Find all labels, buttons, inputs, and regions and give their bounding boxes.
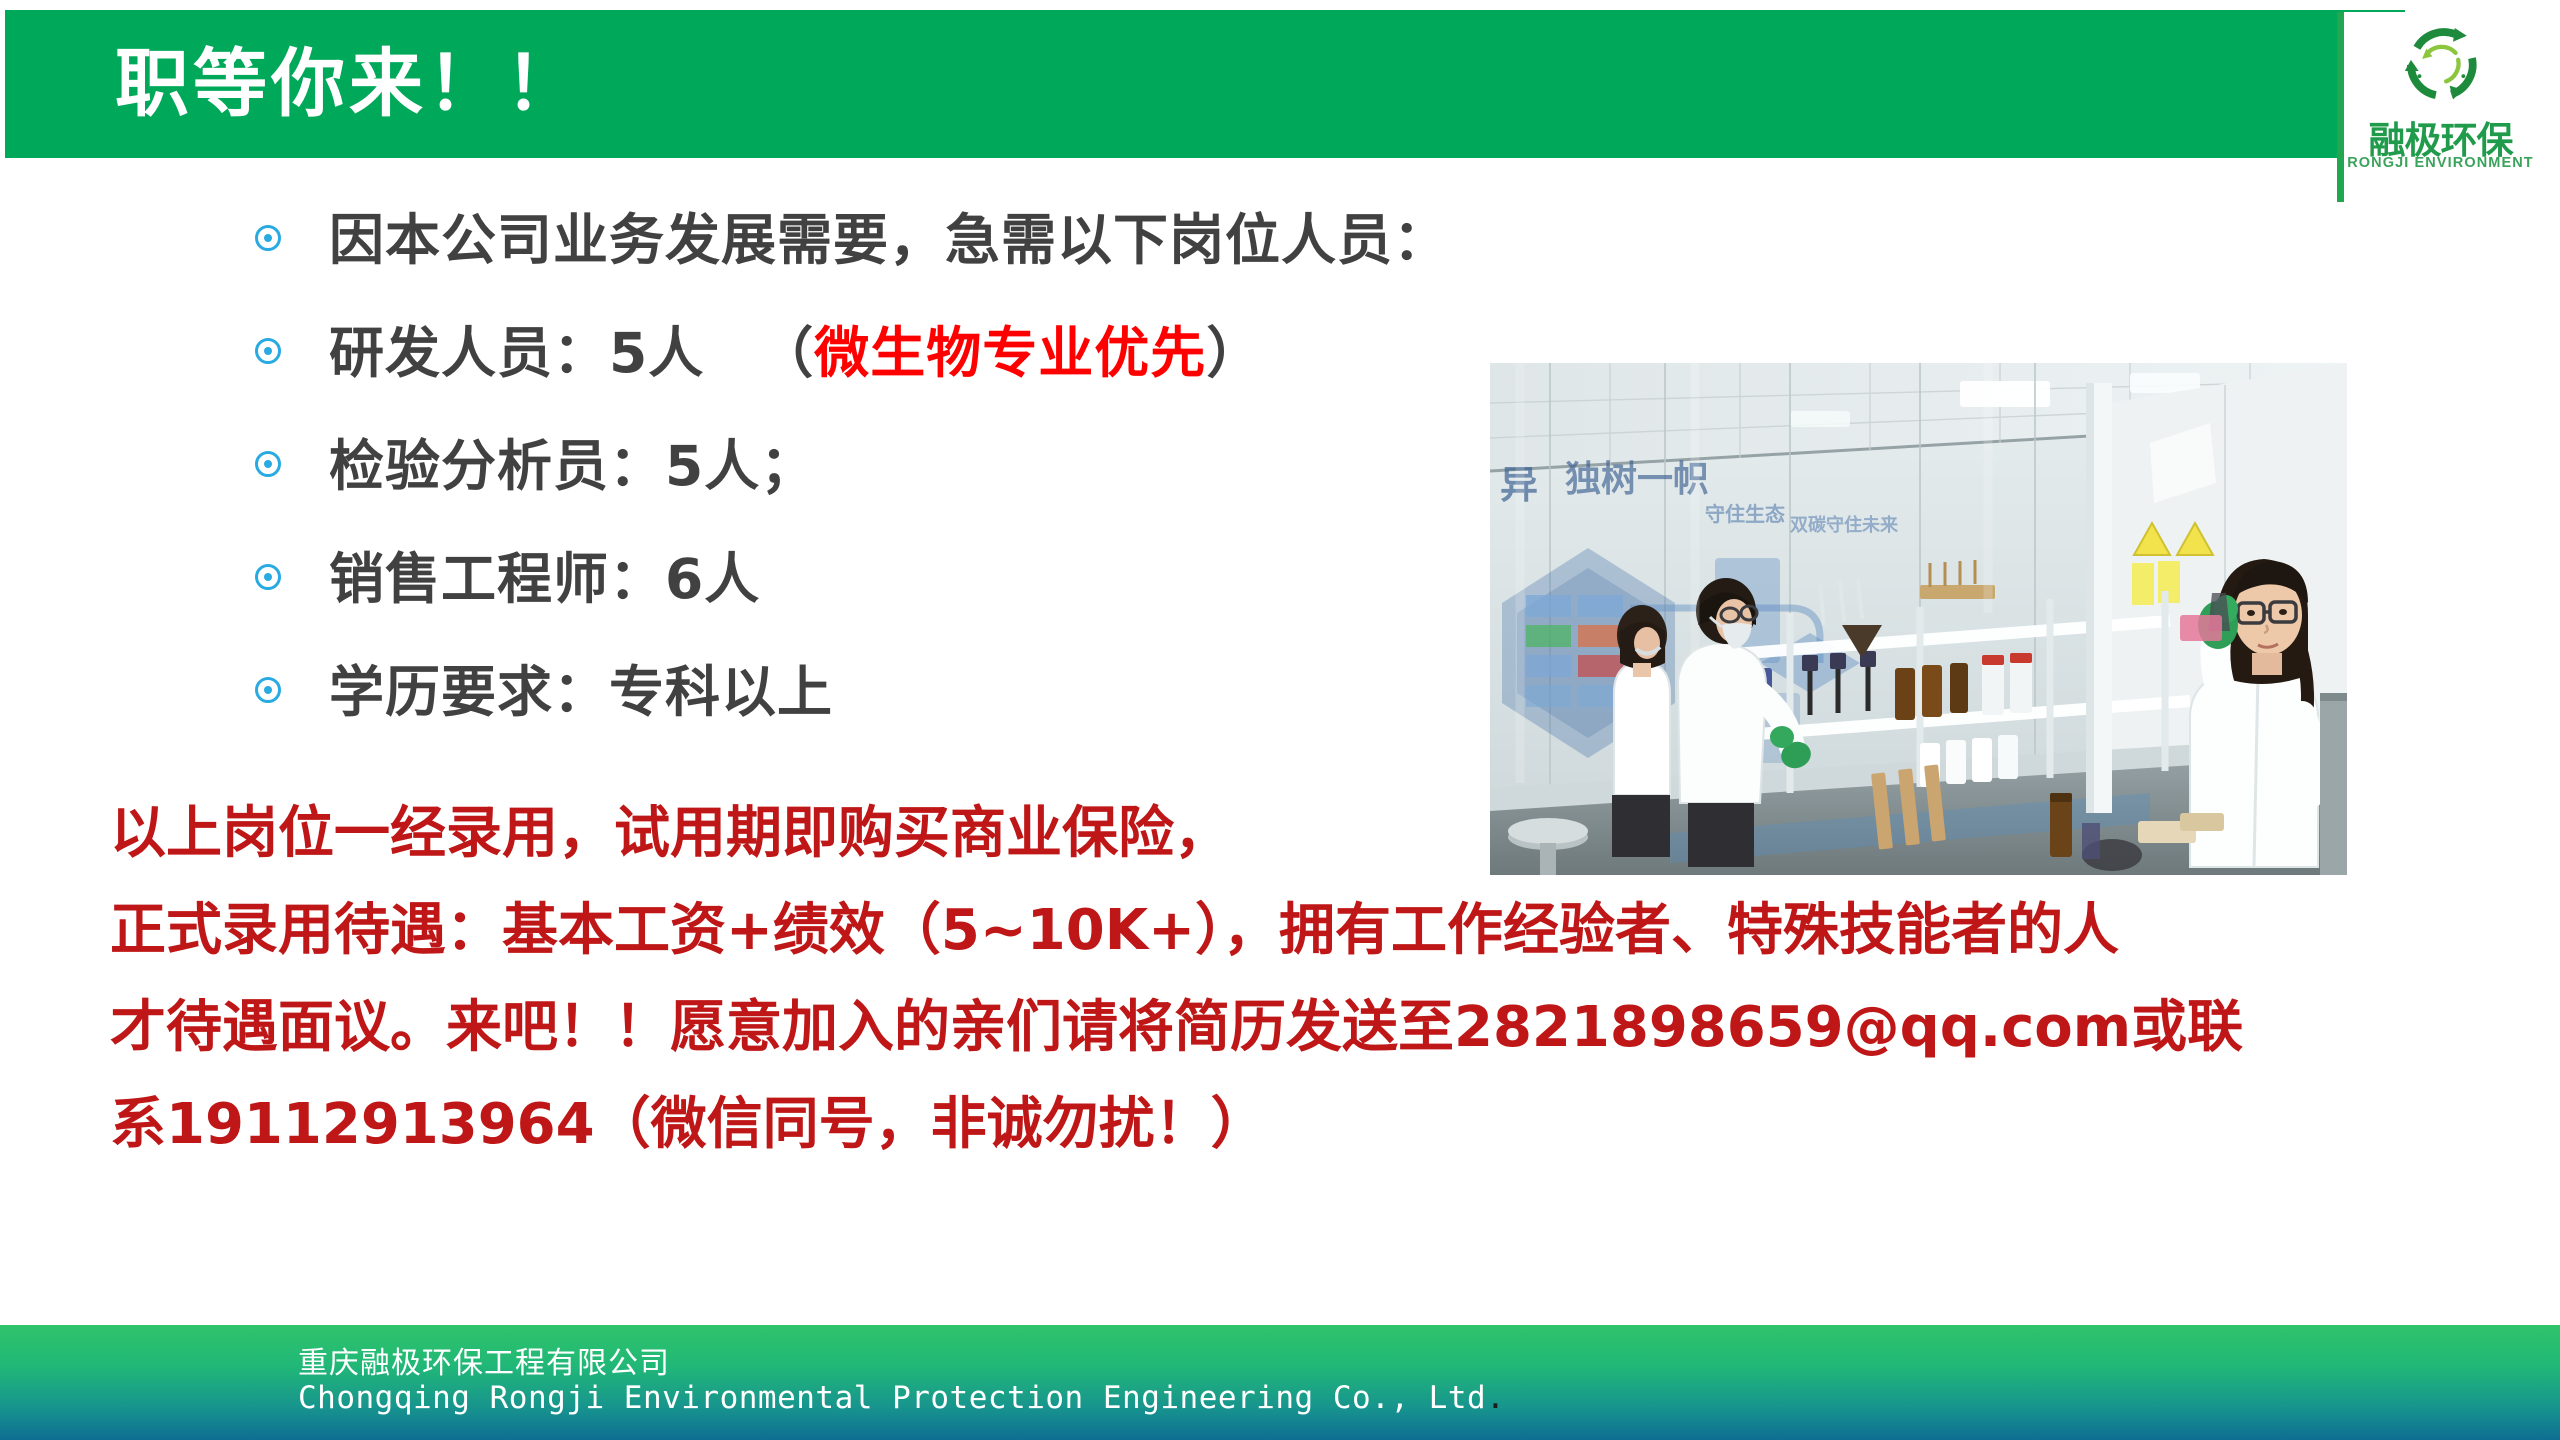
company-logo: 融极环保 RONGJI ENVIRONMENT bbox=[2337, 12, 2537, 202]
slide-canvas: 职等你来！！ bbox=[0, 0, 2560, 1440]
footer-period: . bbox=[1486, 1380, 1505, 1416]
notice-paragraph: 以上岗位一经录用，试用期即购买商业保险， 正式录用待遇：基本工资+绩效（5~10… bbox=[110, 785, 2510, 1173]
svg-text:守住生态: 守住生态 bbox=[1705, 502, 1785, 526]
recycle-ring-icon bbox=[2398, 22, 2484, 108]
footer-company-cn: 重庆融极环保工程有限公司 bbox=[298, 1338, 670, 1382]
bullet-label: 销售工程师：6人 bbox=[329, 534, 760, 614]
bullet-dot-icon bbox=[255, 677, 281, 703]
bullet-dot-icon bbox=[255, 451, 281, 477]
page-title: 职等你来！！ bbox=[115, 34, 583, 134]
list-item: 因本公司业务发展需要，急需以下岗位人员： bbox=[255, 196, 1555, 274]
list-item: 学历要求：专科以上 bbox=[255, 648, 1555, 726]
paren-close: ） bbox=[1206, 321, 1262, 385]
footer-bar: 重庆融极环保工程有限公司 Chongqing Rongji Environmen… bbox=[0, 1325, 2560, 1440]
bullet-label: 因本公司业务发展需要，急需以下岗位人员： bbox=[329, 195, 1449, 275]
svg-text:双碳守住未来: 双碳守住未来 bbox=[1790, 514, 1899, 536]
bullet-dot-icon bbox=[255, 564, 281, 590]
list-item: 销售工程师：6人 bbox=[255, 535, 1555, 613]
bullet-label: 研发人员：5人（微生物专业优先） bbox=[329, 308, 1262, 388]
svg-text:独树一帜: 独树一帜 bbox=[1565, 459, 1709, 500]
notice-line-4: 系19112913964（微信同号，非诚勿扰！） bbox=[110, 1076, 2510, 1173]
title-banner: 职等你来！！ bbox=[5, 10, 2405, 158]
bullet-highlight: 微生物专业优先 bbox=[814, 321, 1206, 385]
list-item: 检验分析员：5人； bbox=[255, 422, 1555, 500]
list-item: 研发人员：5人（微生物专业优先） bbox=[255, 309, 1555, 387]
job-bullet-list: 因本公司业务发展需要，急需以下岗位人员： 研发人员：5人（微生物专业优先） 检验… bbox=[255, 196, 1555, 761]
bullet-label: 检验分析员：5人； bbox=[329, 421, 816, 501]
bullet-dot-icon bbox=[255, 225, 281, 251]
logo-name-en: RONGJI ENVIRONMENT bbox=[2344, 155, 2537, 171]
paren-open: （ bbox=[758, 321, 814, 385]
footer-company-en: Chongqing Rongji Environmental Protectio… bbox=[298, 1380, 1505, 1416]
notice-line-3: 才待遇面议。来吧！！愿意加入的亲们请将简历发送至2821898659@qq.co… bbox=[110, 979, 2510, 1076]
bullet-label: 学历要求：专科以上 bbox=[329, 647, 833, 727]
footer-company-en-text: Chongqing Rongji Environmental Protectio… bbox=[298, 1380, 1486, 1416]
notice-line-2: 正式录用待遇：基本工资+绩效（5~10K+），拥有工作经验者、特殊技能者的人 bbox=[110, 882, 2510, 979]
bullet-dot-icon bbox=[255, 338, 281, 364]
bullet-label-text: 研发人员：5人 bbox=[329, 321, 704, 385]
notice-line-1: 以上岗位一经录用，试用期即购买商业保险， bbox=[110, 785, 2510, 882]
